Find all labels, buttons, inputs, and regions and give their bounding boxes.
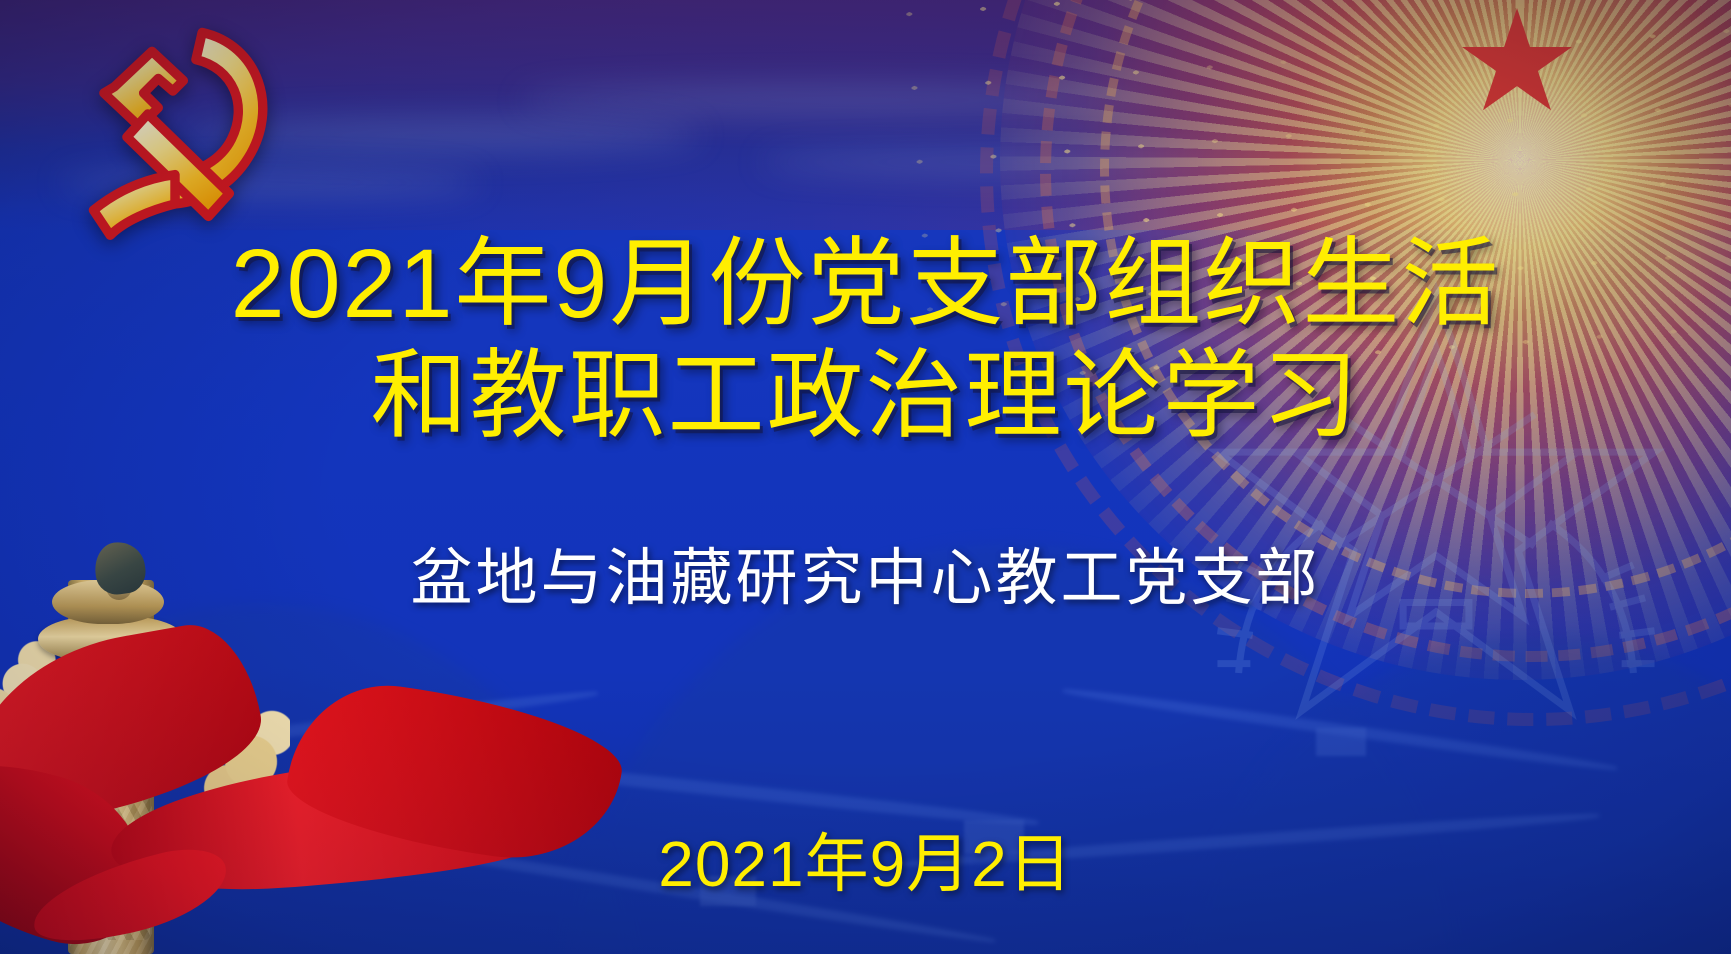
slide-date: 2021年9月2日 <box>0 826 1731 902</box>
presentation-slide: 2021年9月份党支部组织生活 和教职工政治理论学习 盆地与油藏研究中心教工党支… <box>0 0 1731 954</box>
slide-subtitle: 盆地与油藏研究中心教工党支部 <box>0 542 1731 616</box>
slide-title-line-1: 2021年9月份党支部组织生活 <box>0 226 1731 341</box>
slide-title-line-2: 和教职工政治理论学习 <box>0 338 1731 453</box>
vignette-overlay <box>0 0 1731 954</box>
